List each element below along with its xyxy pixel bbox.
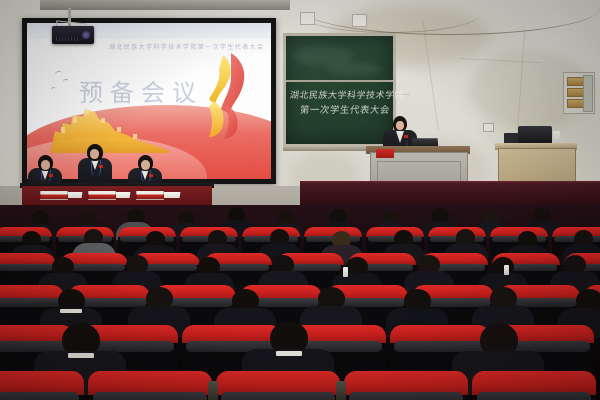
auditorium-seat[interactable] (0, 371, 84, 400)
member-badge (149, 174, 153, 177)
panel-door[interactable] (583, 75, 593, 112)
chalk-smudge (326, 62, 381, 76)
audience-area (0, 205, 600, 400)
torch-emblem-graphic (197, 49, 253, 141)
bird-icon (51, 87, 57, 93)
water-bottle (343, 267, 348, 277)
blackboard-line-2: 第一次学生代表大会 (299, 102, 401, 116)
projector-vent (56, 37, 78, 41)
member-face (41, 160, 50, 170)
member-badge (99, 165, 103, 168)
auditorium-seat[interactable] (88, 371, 212, 400)
great-wall-graphic (49, 101, 171, 153)
member-lanyard (91, 160, 101, 176)
seat-gap (208, 381, 218, 400)
name-placard (40, 190, 68, 200)
blackboard: 湖北民族大学科学技术学院 第一次学生代表大会 (283, 33, 396, 147)
projector-lens-icon (82, 31, 90, 39)
wall-socket[interactable] (483, 123, 494, 132)
member-badge (49, 174, 53, 177)
member-face (90, 149, 99, 159)
name-placard (88, 190, 116, 200)
member-face (141, 160, 150, 170)
blackboard-line-1: 湖北民族大学科学技术学院 (289, 88, 391, 101)
speaker-shirt (396, 131, 404, 143)
name-placard (136, 190, 164, 200)
seat-gap (336, 381, 346, 400)
wall-fixture-box (352, 14, 367, 27)
paper-cup (553, 131, 560, 143)
slide-title: 预备会议 (79, 73, 203, 108)
attendee-collar (60, 309, 82, 313)
attendee-collar (68, 353, 94, 358)
bird-icon (55, 70, 63, 76)
av-equipment[interactable] (518, 126, 552, 144)
electrical-panel[interactable] (563, 72, 595, 114)
blackboard-seam (286, 80, 393, 82)
speaker-badge (404, 135, 408, 138)
water-bottle (504, 265, 509, 275)
ceiling-projector (52, 26, 94, 44)
auditorium-seat[interactable] (472, 371, 596, 400)
bird-icon (63, 78, 70, 84)
auditorium-seat[interactable] (344, 371, 468, 400)
auditorium-seat[interactable] (216, 371, 340, 400)
podium-emblem (376, 149, 394, 158)
speaker-face (396, 121, 404, 130)
ceiling-rail (40, 0, 290, 10)
lecture-hall-photo: 湖北民族大学科学技术学院第一次学生代表大会 (0, 0, 600, 400)
wall-fixture-box (300, 12, 315, 25)
attendee-collar (276, 351, 302, 356)
